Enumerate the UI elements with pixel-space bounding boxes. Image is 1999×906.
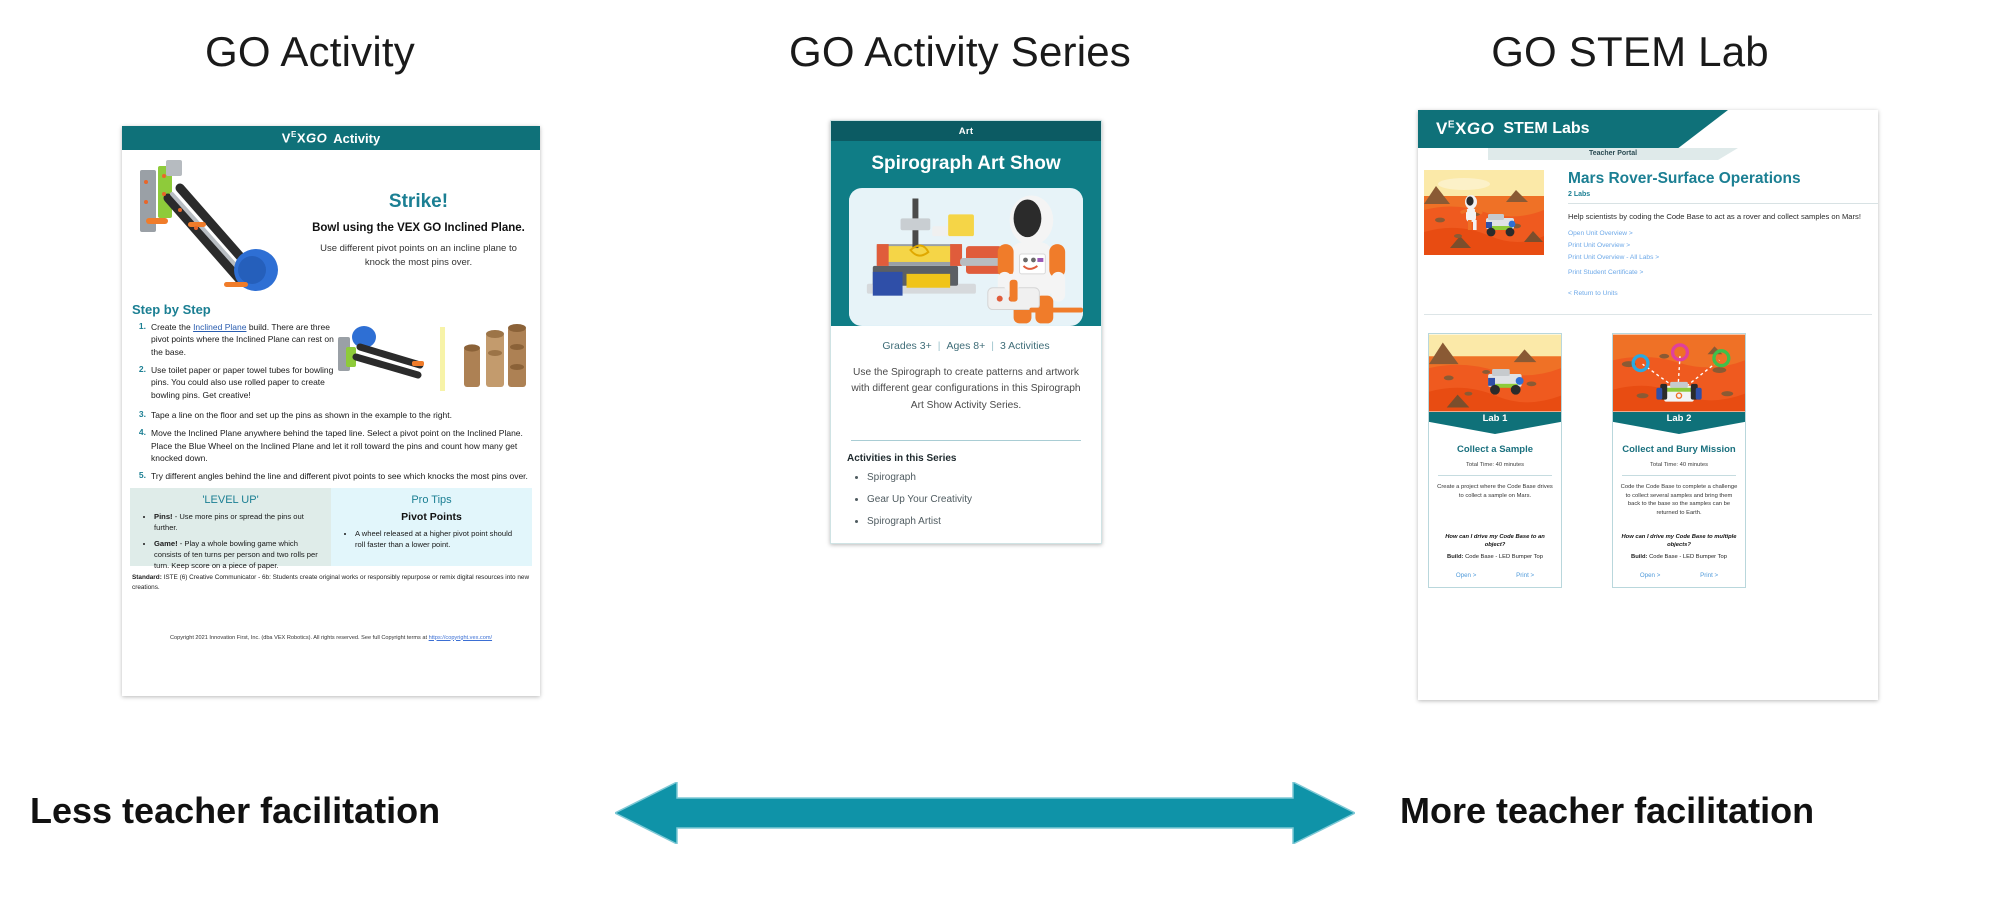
lab-body: Collect a Sample Total Time: 40 minutes … bbox=[1429, 434, 1561, 587]
lab-banner: Lab 2 bbox=[1613, 412, 1745, 434]
series-title: Spirograph Art Show bbox=[831, 153, 1101, 188]
pro-tips-item: A wheel released at a higher pivot point… bbox=[355, 528, 522, 550]
meta-separator: | bbox=[985, 340, 1000, 352]
activity-description: Use different pivot points on an incline… bbox=[303, 242, 534, 270]
lab-divider bbox=[1438, 475, 1552, 476]
activity-band-label: Activity bbox=[333, 131, 380, 146]
vex-go-logo: VEXGO bbox=[282, 130, 327, 145]
series-meta-grades: Grades 3+ bbox=[882, 340, 931, 352]
lab-build: Build: Code Base - LED Bumper Top bbox=[1436, 554, 1554, 560]
activity-hero: Strike! Bowl using the VEX GO Inclined P… bbox=[122, 150, 540, 300]
slide-canvas: GO Activity GO Activity Series GO STEM L… bbox=[0, 0, 1999, 906]
unit-summary: Mars Rover-Surface Operations 2 Labs Hel… bbox=[1418, 170, 1878, 300]
lab2-image bbox=[1613, 334, 1745, 412]
stem-labs-label: STEM Labs bbox=[1503, 120, 1589, 138]
lab-description: Create a project where the Code Base dri… bbox=[1436, 483, 1554, 525]
inclined-plane-photo bbox=[128, 158, 303, 300]
teacher-portal-label: Teacher Portal bbox=[1488, 148, 1738, 160]
series-meta-activities: 3 Activities bbox=[1000, 340, 1050, 352]
series-list-heading: Activities in this Series bbox=[847, 453, 1085, 464]
lab-cards: Lab 1 Collect a Sample Total Time: 40 mi… bbox=[1428, 333, 1878, 588]
open-unit-overview-link[interactable]: Open Unit Overview > bbox=[1568, 230, 1878, 237]
column-title-go-activity: GO Activity bbox=[100, 28, 520, 76]
lab-question: How can I drive my Code Base to an objec… bbox=[1436, 533, 1554, 549]
scale-label-more: More teacher facilitation bbox=[1400, 790, 1814, 832]
series-category-bar: Art bbox=[831, 121, 1101, 141]
lab-banner-label: Lab 1 bbox=[1483, 412, 1508, 425]
lab-actions: Open > Print > bbox=[1436, 572, 1554, 579]
pro-tips-list: A wheel released at a higher pivot point… bbox=[341, 528, 522, 550]
lab-description: Code the Code Base to complete a challen… bbox=[1620, 483, 1738, 525]
lab-open-link[interactable]: Open > bbox=[1640, 572, 1660, 579]
go-activity-document: VEXGO Activity bbox=[122, 126, 540, 696]
standard-line: Standard: ISTE (6) Creative Communicator… bbox=[132, 573, 530, 592]
scale-label-less: Less teacher facilitation bbox=[30, 790, 440, 832]
lab-build-label: Build: bbox=[1447, 554, 1463, 560]
lab1-image bbox=[1429, 334, 1561, 412]
unit-divider bbox=[1568, 203, 1878, 204]
series-body: Grades 3+|Ages 8+|3 Activities Use the S… bbox=[831, 326, 1101, 528]
step-number: 5. bbox=[132, 470, 146, 482]
print-student-certificate-link[interactable]: Print Student Certificate > bbox=[1568, 269, 1878, 276]
standard-text: ISTE (6) Creative Communicator - 6b: Stu… bbox=[132, 574, 529, 591]
column-title-go-activity-series: GO Activity Series bbox=[630, 28, 1290, 76]
go-stem-lab-page: VEXGO STEM Labs Teacher Portal bbox=[1418, 110, 1878, 700]
unit-links: Open Unit Overview > Print Unit Overview… bbox=[1568, 230, 1878, 276]
step-number: 2. bbox=[132, 364, 146, 401]
level-up-item-text: - Use more pins or spread the pins out f… bbox=[154, 512, 304, 532]
mars-rover-targets-illustration bbox=[1613, 334, 1745, 412]
step-item: 4. Move the Inclined Plane anywhere behi… bbox=[132, 427, 530, 464]
series-hero: Spirograph Art Show bbox=[831, 141, 1101, 326]
step-text: Tape a line on the floor and set up the … bbox=[151, 409, 452, 421]
lab-total-time: Total Time: 40 minutes bbox=[1436, 462, 1554, 468]
spirograph-robot-illustration bbox=[849, 188, 1083, 326]
step-number: 4. bbox=[132, 427, 146, 464]
series-description: Use the Spirograph to create patterns an… bbox=[847, 365, 1085, 414]
stem-header: VEXGO STEM Labs Teacher Portal bbox=[1418, 110, 1878, 148]
lab-open-link[interactable]: Open > bbox=[1456, 572, 1476, 579]
unit-info: Mars Rover-Surface Operations 2 Labs Hel… bbox=[1544, 170, 1878, 300]
return-to-units-link[interactable]: < Return to Units bbox=[1568, 290, 1618, 297]
step-item: 5. Try different angles behind the line … bbox=[132, 470, 530, 482]
lab-card[interactable]: Lab 1 Collect a Sample Total Time: 40 mi… bbox=[1428, 333, 1562, 588]
print-unit-overview-link[interactable]: Print Unit Overview > bbox=[1568, 242, 1878, 249]
spirograph-photo bbox=[849, 188, 1083, 326]
step-item: 3. Tape a line on the floor and set up t… bbox=[132, 409, 530, 421]
activity-hero-text: Strike! Bowl using the VEX GO Inclined P… bbox=[303, 158, 534, 300]
lab-title: Collect a Sample bbox=[1436, 444, 1554, 455]
unit-description: Help scientists by coding the Code Base … bbox=[1568, 212, 1878, 221]
lab-build: Build: Code Base - LED Bumper Top bbox=[1620, 554, 1738, 560]
tip-boxes: 'LEVEL UP' Pins! - Use more pins or spre… bbox=[130, 488, 532, 566]
step-text: Create the Inclined Plane build. There a… bbox=[151, 321, 347, 358]
lab-banner-label: Lab 2 bbox=[1667, 412, 1692, 425]
activity-title: Strike! bbox=[303, 192, 534, 213]
series-meta-ages: Ages 8+ bbox=[946, 340, 985, 352]
step-number: 3. bbox=[132, 409, 146, 421]
lab-build-value: Code Base - LED Bumper Top bbox=[1463, 554, 1542, 560]
level-up-box: 'LEVEL UP' Pins! - Use more pins or spre… bbox=[130, 488, 331, 566]
series-activity-item[interactable]: Spirograph Artist bbox=[867, 516, 1085, 528]
lab-title: Collect and Bury Mission bbox=[1620, 444, 1738, 455]
mars-surface-illustration bbox=[1424, 170, 1544, 255]
standard-label: Standard: bbox=[132, 574, 162, 581]
lab-print-link[interactable]: Print > bbox=[1516, 572, 1534, 579]
lab-body: Collect and Bury Mission Total Time: 40 … bbox=[1613, 434, 1745, 587]
copyright-link[interactable]: https://copyright.vex.com/ bbox=[429, 635, 492, 641]
pro-tips-box: Pro Tips Pivot Points A wheel released a… bbox=[331, 488, 532, 566]
copyright-text: Copyright 2021 Innovation First, Inc. (d… bbox=[170, 635, 429, 641]
step-number: 1. bbox=[132, 321, 146, 358]
pins-and-ramp-illustration bbox=[336, 321, 536, 407]
inclined-plane-link[interactable]: Inclined Plane bbox=[193, 322, 246, 332]
level-up-item: Game! - Play a whole bowling game which … bbox=[154, 538, 321, 571]
meta-separator: | bbox=[932, 340, 947, 352]
level-up-list: Pins! - Use more pins or spread the pins… bbox=[140, 511, 321, 571]
series-activity-list: Spirograph Gear Up Your Creativity Spiro… bbox=[847, 472, 1085, 528]
series-activity-item[interactable]: Gear Up Your Creativity bbox=[867, 494, 1085, 506]
series-divider bbox=[851, 440, 1081, 441]
unit-lab-count: 2 Labs bbox=[1568, 191, 1878, 198]
step-text: Move the Inclined Plane anywhere behind … bbox=[151, 427, 530, 464]
activity-steps: 1. Create the Inclined Plane build. Ther… bbox=[122, 321, 540, 482]
step-text: Try different angles behind the line and… bbox=[151, 470, 528, 482]
pro-tips-heading: Pro Tips bbox=[341, 494, 522, 506]
step-text: Use toilet paper or paper towel tubes fo… bbox=[151, 364, 347, 401]
lab-print-link[interactable]: Print > bbox=[1700, 572, 1718, 579]
lab-divider bbox=[1622, 475, 1736, 476]
lab-card[interactable]: Lab 2 Collect and Bury Mission Total Tim… bbox=[1612, 333, 1746, 588]
stem-header-band: VEXGO STEM Labs bbox=[1418, 110, 1728, 148]
print-unit-overview-all-labs-link[interactable]: Print Unit Overview - All Labs > bbox=[1568, 254, 1878, 261]
lab-banner: Lab 1 bbox=[1429, 412, 1561, 434]
level-up-item-bold: Pins! bbox=[154, 512, 173, 521]
steps-lower: 3. Tape a line on the floor and set up t… bbox=[132, 409, 530, 483]
facilitation-arrow bbox=[615, 782, 1355, 844]
level-up-item-bold: Game! bbox=[154, 539, 178, 548]
vex-go-logo: VEXGO bbox=[1436, 119, 1494, 139]
activity-subtitle: Bowl using the VEX GO Inclined Plane. bbox=[303, 222, 534, 234]
activity-header-band: VEXGO Activity bbox=[122, 126, 540, 150]
pro-tips-subheading: Pivot Points bbox=[341, 511, 522, 523]
section-divider bbox=[1424, 314, 1872, 315]
inclined-plane-illustration bbox=[128, 158, 303, 300]
step-text-pre: Create the bbox=[151, 322, 193, 332]
lab-total-time: Total Time: 40 minutes bbox=[1620, 462, 1738, 468]
level-up-heading: 'LEVEL UP' bbox=[140, 494, 321, 506]
series-activity-item[interactable]: Spirograph bbox=[867, 472, 1085, 484]
unit-title: Mars Rover-Surface Operations bbox=[1568, 170, 1878, 188]
level-up-item-text: - Play a whole bowling game which consis… bbox=[154, 539, 318, 570]
column-title-go-stem-lab: GO STEM Lab bbox=[1330, 28, 1930, 76]
go-activity-series-card: Art Spirograph Art Show bbox=[830, 120, 1102, 544]
mars-unit-image bbox=[1424, 170, 1544, 255]
mars-rover-scene-illustration bbox=[1429, 334, 1561, 412]
series-meta: Grades 3+|Ages 8+|3 Activities bbox=[847, 340, 1085, 352]
step-illustrations bbox=[336, 321, 536, 407]
lab-actions: Open > Print > bbox=[1620, 572, 1738, 579]
lab-build-label: Build: bbox=[1631, 554, 1647, 560]
lab-question: How can I drive my Code Base to multiple… bbox=[1620, 533, 1738, 549]
step-by-step-heading: Step by Step bbox=[132, 302, 540, 317]
lab-build-value: Code Base - LED Bumper Top bbox=[1647, 554, 1726, 560]
level-up-item: Pins! - Use more pins or spread the pins… bbox=[154, 511, 321, 533]
copyright-line: Copyright 2021 Innovation First, Inc. (d… bbox=[122, 635, 540, 641]
